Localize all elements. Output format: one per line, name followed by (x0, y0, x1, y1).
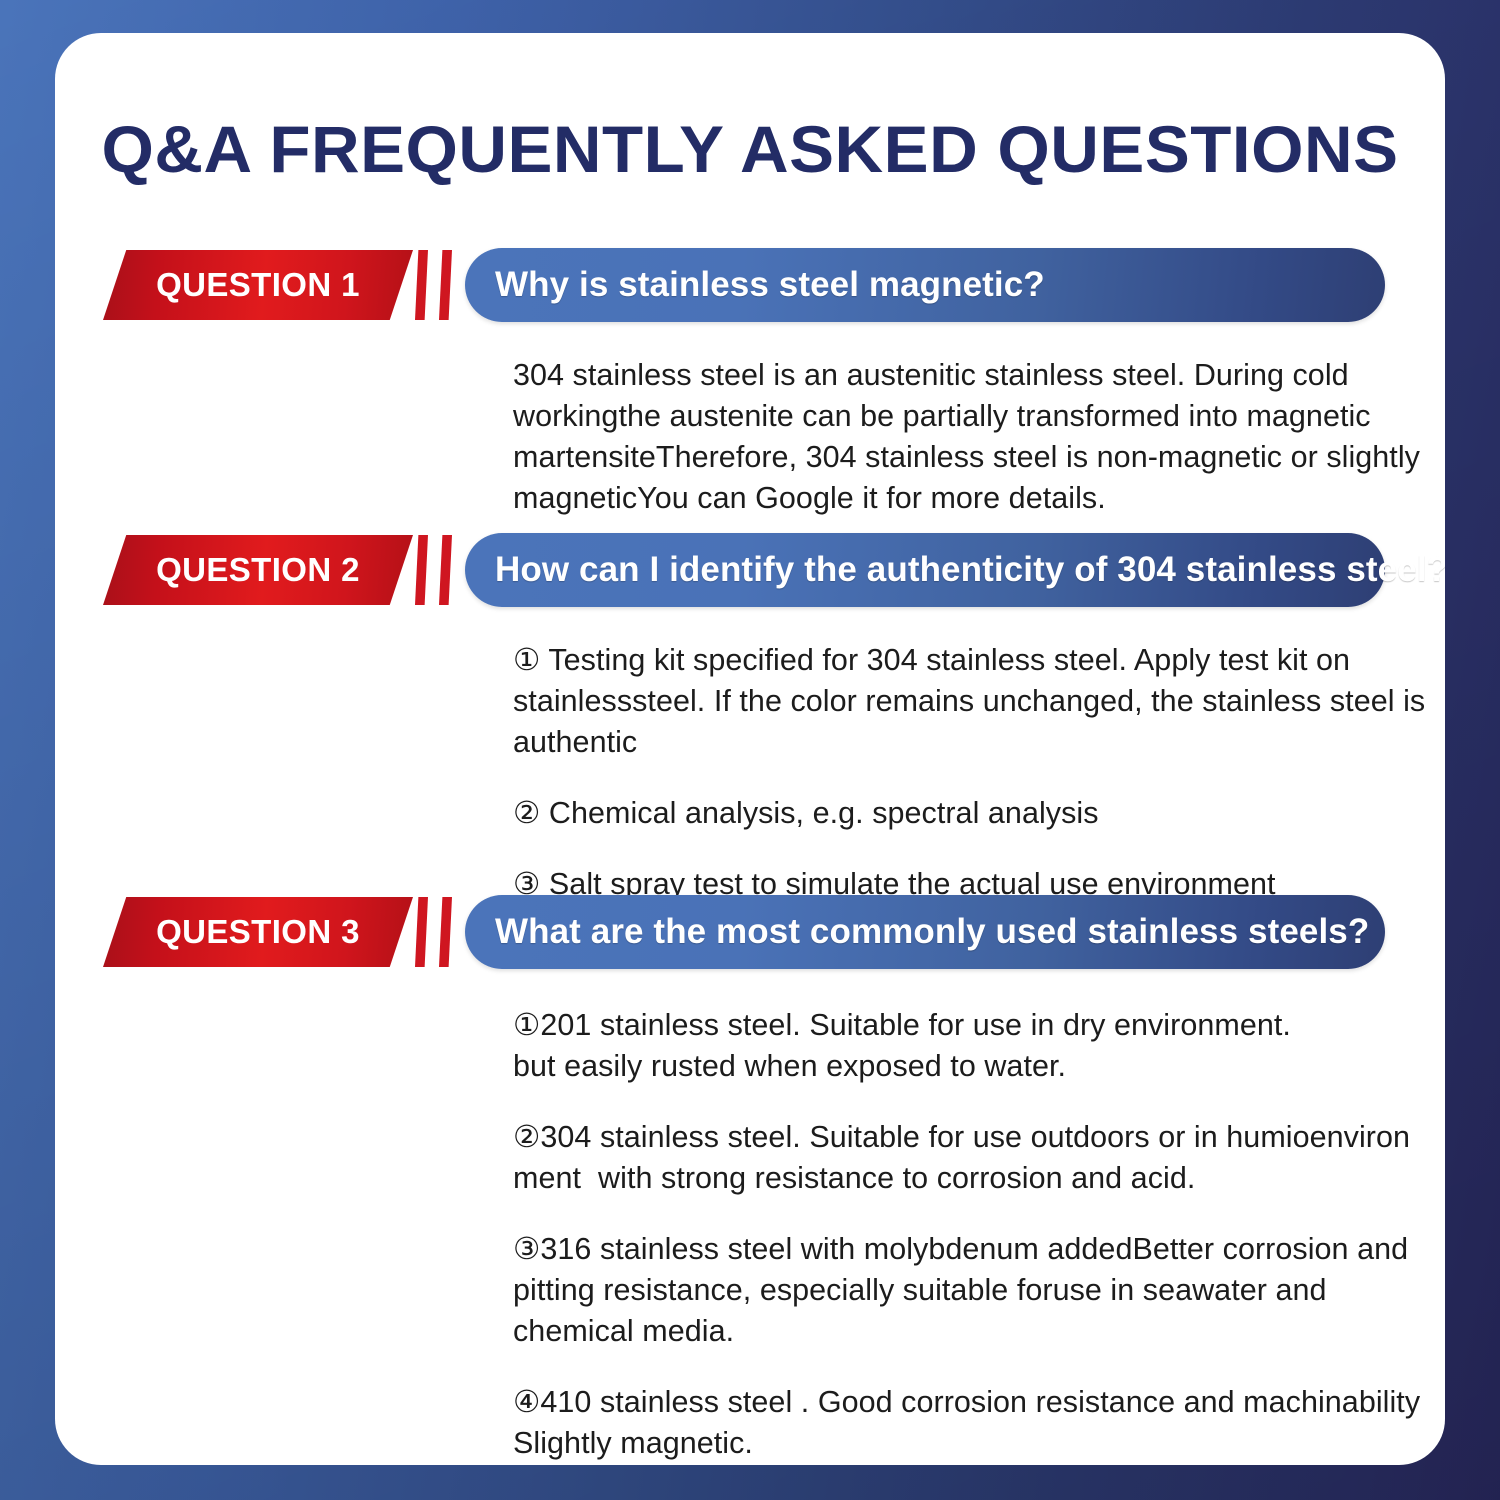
answer-paragraph: ② Chemical analysis, e.g. spectral analy… (513, 793, 1443, 834)
question-header-2: QUESTION 2 How can I identify the authen… (55, 533, 1445, 609)
slash-separator-icon-3 (411, 897, 471, 967)
question-heading-label-1: Why is stainless steel magnetic? (495, 248, 1045, 322)
answer-paragraph: ① Testing kit specified for 304 stainles… (513, 640, 1443, 763)
slash-separator-icon-1 (411, 250, 471, 320)
slash-separator-icon-2 (411, 535, 471, 605)
question-tag-1[interactable]: QUESTION 1 (103, 250, 413, 320)
answer-paragraph: ②304 stainless steel. Suitable for use o… (513, 1117, 1443, 1199)
answer-paragraph: ③316 stainless steel with molybdenum add… (513, 1229, 1443, 1352)
question-tag-label-2: QUESTION 2 (103, 535, 413, 605)
answer-paragraph: ④410 stainless steel . Good corrosion re… (513, 1382, 1443, 1464)
question-tag-label-1: QUESTION 1 (103, 250, 413, 320)
page-background: Q&A FREQUENTLY ASKED QUESTIONS QUESTION … (0, 0, 1500, 1500)
answer-paragraph: ①201 stainless steel. Suitable for use i… (513, 1005, 1443, 1087)
answer-paragraph: 304 stainless steel is an austenitic sta… (513, 355, 1443, 519)
question-heading-pill-1[interactable]: Why is stainless steel magnetic? (465, 248, 1385, 322)
answer-body-2: ① Testing kit specified for 304 stainles… (513, 640, 1443, 905)
page-title: Q&A FREQUENTLY ASKED QUESTIONS (55, 111, 1445, 187)
faq-card: Q&A FREQUENTLY ASKED QUESTIONS QUESTION … (55, 33, 1445, 1465)
question-block-1: QUESTION 1 Why is stainless steel magnet… (55, 248, 1445, 324)
question-block-3: QUESTION 3 What are the most commonly us… (55, 895, 1445, 971)
answer-body-3: ①201 stainless steel. Suitable for use i… (513, 1005, 1443, 1464)
answer-body-1: 304 stainless steel is an austenitic sta… (513, 355, 1443, 519)
question-tag-2[interactable]: QUESTION 2 (103, 535, 413, 605)
question-block-2: QUESTION 2 How can I identify the authen… (55, 533, 1445, 609)
question-header-1: QUESTION 1 Why is stainless steel magnet… (55, 248, 1445, 324)
question-heading-pill-2[interactable]: How can I identify the authenticity of 3… (465, 533, 1385, 607)
question-tag-label-3: QUESTION 3 (103, 897, 413, 967)
question-heading-pill-3[interactable]: What are the most commonly used stainles… (465, 895, 1385, 969)
question-heading-label-3: What are the most commonly used stainles… (495, 895, 1369, 969)
question-heading-label-2: How can I identify the authenticity of 3… (495, 533, 1445, 607)
question-header-3: QUESTION 3 What are the most commonly us… (55, 895, 1445, 971)
question-tag-3[interactable]: QUESTION 3 (103, 897, 413, 967)
